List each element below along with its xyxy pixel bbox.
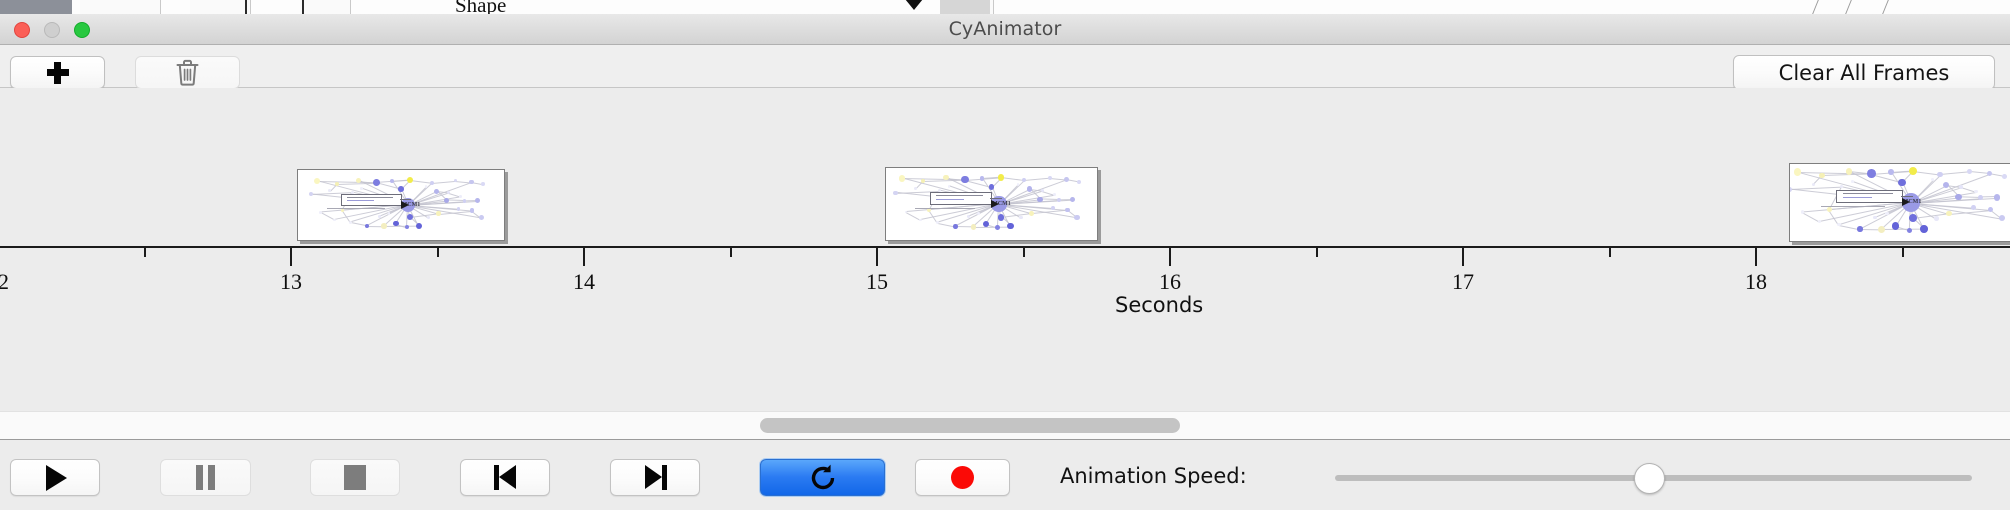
- background-cell: [80, 0, 161, 14]
- pause-icon: [195, 465, 216, 490]
- record-icon: [951, 466, 974, 489]
- graph-node: [1974, 190, 1977, 193]
- graph-node: [360, 187, 362, 189]
- graph-annotation-connector: [990, 198, 1001, 199]
- graph-node: [1867, 169, 1876, 178]
- play-button[interactable]: [10, 459, 100, 496]
- graph-annotation-text-line: [936, 199, 964, 200]
- background-gray-cell: [940, 0, 990, 14]
- frame-network-graph: MCM1: [886, 168, 1097, 240]
- background-window-sidebar: [0, 0, 72, 14]
- tick-minor: [1023, 246, 1025, 257]
- graph-annotation-text-line: [1843, 197, 1873, 198]
- graph-annotation-text-line: [347, 200, 374, 201]
- toolbar: [0, 45, 2010, 88]
- graph-node: [1946, 211, 1952, 217]
- graph-node: [1840, 185, 1843, 188]
- tick-minor: [437, 246, 439, 257]
- graph-edge: [1871, 174, 1902, 183]
- graph-edge: [1940, 171, 1970, 175]
- graph-node: [989, 184, 995, 190]
- graph-node: [1994, 194, 2000, 200]
- graph-node: [899, 175, 905, 181]
- record-button[interactable]: [915, 459, 1010, 496]
- graph-node: [1920, 225, 1928, 233]
- tick-label: 15: [836, 269, 918, 295]
- graph-node: [1888, 169, 1894, 175]
- graph-node: [1907, 228, 1913, 234]
- graph-node: [436, 211, 440, 215]
- tick-label: 18: [1715, 269, 1797, 295]
- graph-node: [914, 187, 917, 190]
- graph-node: [309, 192, 313, 196]
- graph-node: [1029, 211, 1034, 216]
- graph-node: [356, 178, 361, 183]
- tick-major: [583, 246, 585, 266]
- tick-label: 13: [250, 269, 332, 295]
- graph-node: [1812, 183, 1815, 186]
- animation-speed-slider-thumb[interactable]: [1634, 463, 1665, 494]
- graph-node: [1955, 194, 1962, 201]
- graph-node: [378, 215, 381, 218]
- add-frame-button[interactable]: [10, 56, 105, 89]
- background-slash: [1845, 0, 1852, 14]
- graph-caption-line: [327, 208, 385, 209]
- graph-node: [1053, 193, 1056, 196]
- background-tick: [245, 0, 247, 14]
- delete-frame-button[interactable]: [135, 56, 240, 89]
- graph-node: [1057, 198, 1061, 202]
- graph-node: [459, 195, 462, 198]
- graph-node: [349, 221, 352, 224]
- clear-all-frames-button[interactable]: Clear All Frames: [1733, 55, 1995, 90]
- graph-node: [1987, 171, 1993, 177]
- graph-edge: [1024, 178, 1049, 181]
- graph-node: [1019, 216, 1023, 220]
- graph-annotation-text-line: [347, 197, 393, 198]
- graph-edge: [432, 181, 456, 184]
- graph-edge: [410, 180, 432, 184]
- plus-icon: [47, 62, 69, 84]
- tick-minor: [1316, 246, 1318, 257]
- graph-node: [319, 211, 322, 214]
- graph-node: [1827, 207, 1832, 212]
- background-slash: [1812, 0, 1819, 14]
- graph-node: [1017, 183, 1020, 186]
- loop-icon: [808, 463, 838, 493]
- graph-node: [998, 214, 1005, 221]
- graph-node: [1937, 172, 1942, 177]
- graph-node: [479, 215, 484, 220]
- pause-button[interactable]: [160, 459, 251, 496]
- graph-node: [481, 182, 485, 186]
- play-icon: [46, 465, 67, 491]
- graph-node: [1074, 215, 1079, 220]
- tick-minor: [1902, 246, 1904, 257]
- timeline-frame-thumbnail[interactable]: MCM1: [885, 167, 1098, 241]
- graph-node: [425, 185, 427, 187]
- graph-node: [1819, 173, 1824, 178]
- graph-annotation-pointer-icon: [401, 201, 409, 209]
- stop-icon: [344, 465, 366, 490]
- graph-node: [893, 191, 897, 195]
- graph-node: [1846, 168, 1852, 174]
- graph-node: [1934, 216, 1938, 220]
- graph-annotation-pointer-icon: [1902, 198, 1910, 206]
- loop-button[interactable]: [760, 459, 885, 496]
- clear-all-frames-label: Clear All Frames: [1779, 61, 1950, 85]
- graph-node: [405, 225, 409, 229]
- tick-minor: [1609, 246, 1611, 257]
- graph-node: [430, 181, 434, 185]
- graph-node: [1027, 186, 1032, 191]
- graph-node: [1051, 206, 1055, 210]
- background-slash: [1882, 0, 1889, 14]
- graph-caption-line: [1821, 206, 1885, 207]
- graph-edge: [965, 180, 992, 188]
- axis-title: Seconds: [1115, 293, 1203, 317]
- next-frame-button[interactable]: [610, 459, 700, 496]
- timeline-panel[interactable]: MCM1 MCM1 MCM1 12131415161718 Seconds: [0, 88, 2010, 411]
- graph-node: [407, 177, 413, 183]
- timeline-scrollbar-thumb[interactable]: [760, 418, 1180, 433]
- tick-major: [290, 246, 292, 266]
- graph-node: [365, 224, 369, 228]
- tick-major: [876, 246, 878, 266]
- graph-node: [1065, 208, 1070, 213]
- graph-node: [977, 212, 980, 215]
- graph-annotation-connector: [1901, 196, 1913, 197]
- graph-node: [1022, 178, 1027, 183]
- tick-major: [1462, 246, 1464, 266]
- graph-node: [1048, 176, 1052, 180]
- tick-minor: [730, 246, 732, 257]
- graph-node: [475, 198, 480, 203]
- graph-node: [1064, 177, 1069, 182]
- timeline-scrollbar[interactable]: [0, 411, 2010, 440]
- graph-node: [919, 219, 922, 222]
- graph-node: [335, 182, 339, 186]
- graph-edge: [1001, 177, 1024, 181]
- graph-node: [980, 176, 985, 181]
- timeline-frame-thumbnail[interactable]: MCM1: [1789, 163, 2010, 242]
- graph-node: [2002, 174, 2007, 179]
- frame-network-graph: MCM1: [298, 170, 504, 240]
- graph-node: [1794, 168, 1802, 176]
- skip-forward-icon: [644, 465, 667, 490]
- tick-label: 14: [543, 269, 625, 295]
- background-tick: [302, 0, 304, 14]
- background-cell: [300, 0, 351, 14]
- graph-node: [971, 224, 977, 230]
- frame-network-graph: MCM1: [1790, 164, 2010, 241]
- graph-edge: [1790, 187, 1842, 190]
- graph-node: [1971, 205, 1976, 210]
- graph-node: [927, 208, 931, 212]
- graph-node: [1041, 189, 1044, 192]
- graph-node: [1007, 223, 1013, 229]
- graph-node: [373, 179, 380, 186]
- skip-back-icon: [494, 465, 517, 490]
- graph-node: [953, 224, 958, 229]
- graph-node: [1801, 210, 1804, 213]
- graph-node: [1909, 167, 1917, 175]
- graph-node: [1999, 215, 2005, 221]
- graph-node: [333, 219, 336, 222]
- timeline-axis-line: [0, 246, 2010, 248]
- graph-node: [416, 223, 422, 229]
- graph-node: [1967, 169, 1972, 174]
- background-cell: [190, 0, 251, 14]
- graph-node: [314, 178, 320, 184]
- graph-node: [1857, 226, 1862, 231]
- timeline-frame-thumbnail[interactable]: MCM1: [297, 169, 505, 241]
- graph-node: [1873, 216, 1877, 220]
- background-arrow-icon: [905, 0, 923, 10]
- graph-node: [1037, 197, 1043, 203]
- graph-node: [995, 225, 1000, 230]
- graph-node: [469, 180, 473, 184]
- background-window-strip: Shape: [0, 0, 2010, 15]
- graph-caption-line: [915, 208, 975, 209]
- previous-frame-button[interactable]: [460, 459, 550, 496]
- animation-speed-label: Animation Speed:: [1060, 464, 1247, 488]
- graph-node: [427, 216, 430, 219]
- graph-edge: [1913, 171, 1940, 176]
- graph-annotation-pointer-icon: [991, 200, 999, 208]
- graph-node: [1878, 226, 1885, 233]
- graph-node: [457, 207, 461, 211]
- graph-node: [998, 174, 1005, 181]
- graph-edge: [1802, 212, 1820, 222]
- graph-node: [381, 223, 386, 228]
- graph-annotation-connector: [400, 199, 411, 200]
- window-title: CyAnimator: [0, 14, 2010, 45]
- graph-node: [1818, 220, 1821, 223]
- tick-major: [1755, 246, 1757, 266]
- tick-label: 16: [1129, 269, 1211, 295]
- tick-major: [1169, 246, 1171, 266]
- graph-node: [1898, 179, 1905, 186]
- stop-button[interactable]: [310, 459, 400, 496]
- graph-node: [1077, 180, 1081, 184]
- graph-annotation-text-line: [1843, 193, 1894, 194]
- graph-node: [1789, 187, 1792, 192]
- title-bar[interactable]: CyAnimator: [0, 14, 2010, 45]
- tick-label: 12: [0, 269, 39, 295]
- graph-node: [1959, 185, 1963, 189]
- tick-label: 17: [1422, 269, 1504, 295]
- graph-node: [1070, 197, 1075, 202]
- graph-node: [961, 176, 968, 183]
- graph-node: [398, 186, 404, 192]
- cyanimator-window: Shape CyAnimator Clear All Frames MCM1: [0, 0, 2010, 510]
- background-cell: [990, 0, 994, 14]
- tick-minor: [144, 246, 146, 257]
- graph-node: [434, 189, 439, 194]
- background-window-label: Shape: [455, 0, 506, 15]
- trash-icon: [175, 59, 200, 86]
- graph-annotation-text-line: [936, 195, 984, 196]
